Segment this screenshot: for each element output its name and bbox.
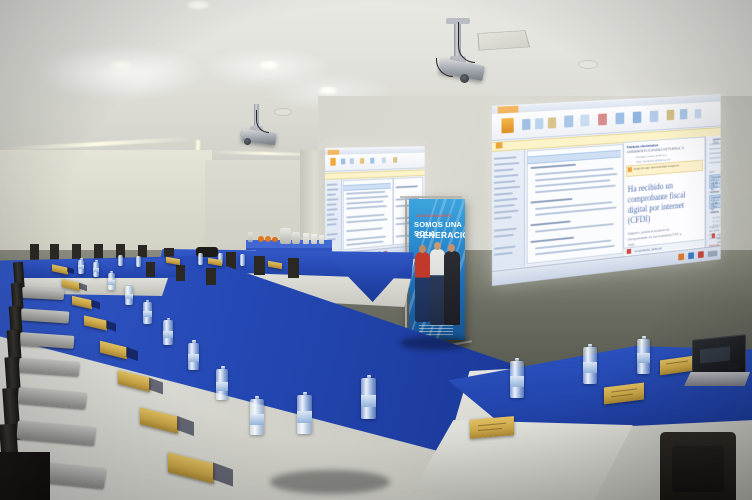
chiavari-chair [94, 244, 103, 260]
bottle-label [297, 411, 312, 423]
ribbon-icon[interactable] [522, 119, 530, 130]
bottle-label [510, 376, 524, 387]
mini-calendar[interactable] [709, 141, 720, 165]
water-bottle [125, 284, 133, 305]
chair-seat-cushion [22, 287, 65, 300]
water-bottle [163, 318, 173, 345]
fruit-bowl [265, 236, 271, 242]
ribbon-icon[interactable] [616, 112, 625, 124]
ribbon-icon[interactable] [548, 117, 556, 128]
ribbon-icon[interactable] [370, 158, 374, 164]
todo-section-today: HOY [709, 170, 714, 174]
wireless-mouse[interactable] [726, 363, 740, 370]
ribbon-icon[interactable] [350, 158, 354, 164]
bottle-body [118, 255, 123, 266]
warning-shield-icon [496, 142, 503, 148]
chiavari-chair [146, 262, 155, 277]
water-bottle [78, 258, 84, 274]
chiavari-chair [288, 258, 299, 278]
bottle-label [583, 362, 597, 373]
banner-person-center [430, 249, 445, 325]
floor-shadow [400, 336, 470, 350]
bottle-label [250, 414, 264, 425]
chiavari-chair [50, 244, 59, 260]
water-bottle [637, 336, 650, 374]
bottle-label [108, 280, 115, 285]
banner-person-left [415, 252, 430, 322]
chiavari-chair [206, 268, 216, 285]
chair-back-slat [672, 446, 724, 492]
fruit-bowl [272, 237, 278, 242]
ribbon-icon[interactable] [680, 109, 687, 120]
chiavari-chair [254, 256, 265, 275]
recessed-downlight [258, 60, 280, 70]
conference-room-photo: Factura electrónica LINEAMIENTO ELEVADO … [0, 0, 752, 500]
ribbon-icon[interactable] [633, 111, 642, 123]
bottle-label [125, 294, 133, 299]
bottle-label [216, 382, 228, 391]
water-bottle [510, 358, 524, 398]
banner-tagline: #JUNTOSSOMOS [416, 213, 452, 218]
water-bottle [143, 300, 152, 324]
ceiling-projector-left [236, 104, 288, 152]
water-bottle [93, 260, 99, 277]
water-bottle [198, 252, 203, 265]
bottle-label [143, 311, 152, 317]
presenter-laptop-keyboard[interactable] [684, 372, 750, 386]
bottle-label [188, 354, 199, 362]
bottle-body [240, 254, 245, 266]
ribbon-icon[interactable] [535, 118, 543, 129]
taskbar-clock[interactable] [708, 250, 718, 257]
calendar-week-row [709, 151, 720, 155]
water-bottle [118, 254, 123, 266]
water-bottle [188, 340, 199, 370]
chiavari-chair [0, 452, 50, 500]
recessed-downlight [186, 0, 210, 10]
cup-stack [311, 234, 317, 244]
water-bottle [108, 271, 115, 290]
recessed-downlight [108, 60, 134, 72]
floor-shadow [270, 470, 390, 494]
ribbon-icon[interactable] [650, 110, 658, 122]
name-tent-card [470, 416, 514, 439]
projector-lens [460, 74, 469, 83]
taskbar-icon[interactable] [678, 253, 684, 260]
cup-stack [303, 233, 309, 244]
water-bottle [583, 344, 597, 384]
attachment-icon [627, 249, 631, 254]
ribbon-icon[interactable] [382, 157, 386, 163]
ribbon-icon[interactable] [695, 109, 702, 119]
bottle-label [163, 331, 173, 338]
ribbon-icon[interactable] [580, 114, 589, 126]
calendar-week-row [709, 160, 720, 164]
water-bottle [240, 253, 245, 266]
warning-shield-icon [628, 167, 632, 172]
calendar-week-row [709, 155, 720, 159]
flag-icon [712, 233, 715, 238]
banner-person-right-head [448, 244, 455, 252]
banner-footer-text [419, 325, 453, 335]
banner-person-center-head [434, 242, 441, 250]
coffee-urn [280, 228, 291, 244]
bottle-body [136, 256, 141, 267]
bottle-label [361, 395, 376, 407]
water-bottle [297, 392, 312, 434]
ribbon-icon[interactable] [667, 110, 674, 121]
water-bottle [216, 366, 228, 400]
chiavari-chair [176, 265, 185, 281]
recessed-downlight [318, 86, 338, 95]
calendar-week-row [709, 146, 720, 150]
rollup-banner: #JUNTOSSOMOS SOMOS UNA SOLA GENERACIÓN [409, 199, 465, 340]
ceiling-speaker [578, 60, 598, 69]
chiavari-chair [30, 244, 39, 260]
projected-screen-right: Factura electrónica LINEAMIENTO ELEVADO … [492, 94, 721, 286]
ribbon-icon[interactable] [564, 115, 573, 127]
ribbon-icon[interactable] [341, 158, 345, 164]
bottle-label [78, 265, 84, 269]
cup-stack [319, 235, 324, 244]
projector-lens [244, 138, 251, 145]
taskbar-icon[interactable] [698, 251, 704, 258]
bottle-label [637, 353, 650, 363]
bottle-label [93, 268, 99, 272]
banner-person-left-head [419, 245, 426, 253]
fruit-bowl [258, 236, 264, 242]
ribbon-icon[interactable] [360, 158, 364, 164]
bottle-body [198, 253, 203, 265]
ribbon-icon-delete[interactable] [598, 113, 607, 125]
ceiling-projector-right [436, 18, 508, 90]
ribbon-icon[interactable] [330, 158, 335, 166]
projector-cable [436, 58, 453, 77]
glassware [248, 232, 253, 242]
water-bottle [361, 375, 376, 419]
banner-headline-line2: GENERACIÓN [416, 230, 465, 240]
coffee-urn [292, 232, 300, 244]
water-bottle [136, 255, 141, 267]
ribbon-icon[interactable] [393, 157, 397, 163]
water-bottle [250, 396, 264, 435]
banner-support-arm [400, 196, 462, 198]
taskbar-icon[interactable] [688, 252, 694, 259]
ribbon-icon-new-email[interactable] [501, 118, 513, 134]
banner-person-right [444, 251, 460, 325]
